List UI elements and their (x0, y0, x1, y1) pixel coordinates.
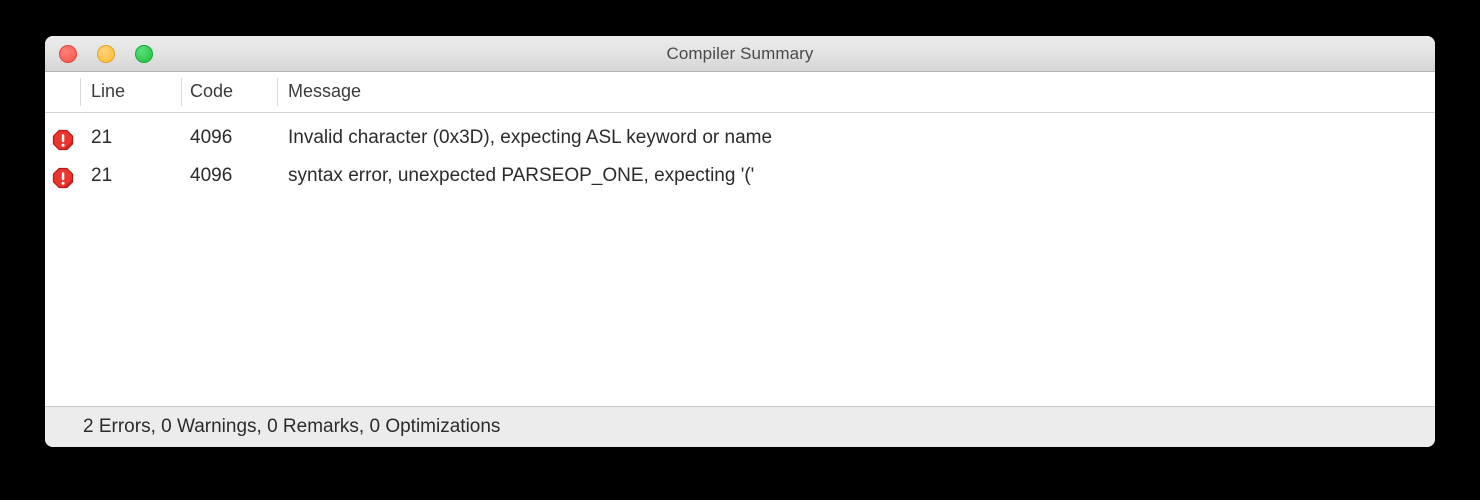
window-title: Compiler Summary (45, 44, 1435, 64)
table-column-header: Line Code Message (45, 72, 1435, 113)
column-header-line[interactable]: Line (91, 81, 125, 102)
column-separator (181, 78, 182, 106)
cell-message: Invalid character (0x3D), expecting ASL … (288, 127, 772, 149)
cell-message: syntax error, unexpected PARSEOP_ONE, ex… (288, 165, 754, 187)
column-header-code[interactable]: Code (190, 81, 233, 102)
status-summary-text: 2 Errors, 0 Warnings, 0 Remarks, 0 Optim… (83, 416, 500, 438)
error-icon (52, 129, 74, 151)
window-controls (59, 36, 153, 71)
cell-line: 21 (91, 165, 112, 187)
table-row[interactable]: 21 4096 Invalid character (0x3D), expect… (45, 121, 1435, 159)
minimize-window-button[interactable] (97, 45, 115, 63)
maximize-window-button[interactable] (135, 45, 153, 63)
column-separator (277, 78, 278, 106)
status-bar: 2 Errors, 0 Warnings, 0 Remarks, 0 Optim… (45, 406, 1435, 447)
table-row[interactable]: 21 4096 syntax error, unexpected PARSEOP… (45, 159, 1435, 197)
cell-code: 4096 (190, 127, 232, 149)
column-header-message[interactable]: Message (288, 81, 361, 102)
compiler-summary-window: Compiler Summary Line Code Message 21 40… (45, 36, 1435, 447)
cell-line: 21 (91, 127, 112, 149)
diagnostics-list[interactable]: 21 4096 Invalid character (0x3D), expect… (45, 113, 1435, 406)
cell-code: 4096 (190, 165, 232, 187)
error-icon (52, 167, 74, 189)
column-separator (80, 78, 81, 106)
window-titlebar: Compiler Summary (45, 36, 1435, 72)
close-window-button[interactable] (59, 45, 77, 63)
